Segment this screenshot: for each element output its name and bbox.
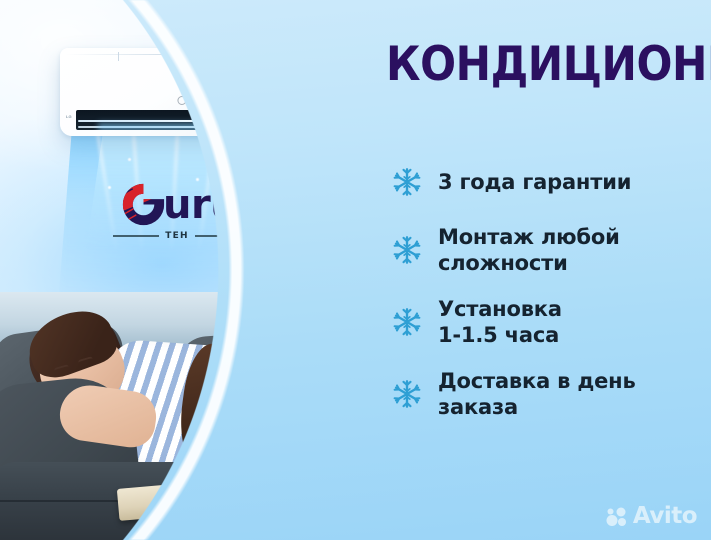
sparkle-particle: [108, 186, 111, 189]
feature-text: Установка 1-1.5 часа: [438, 296, 562, 348]
left-photo-column: LG DUAL Inverter LG Dual: [0, 0, 352, 540]
promo-banner: LG DUAL Inverter LG Dual: [0, 0, 711, 540]
ac-surface-highlight: [277, 68, 291, 82]
ac-panel-seam: [178, 52, 179, 61]
feature-item-delivery: Доставка в день заказа: [392, 368, 704, 420]
feature-text: Монтаж любой сложности: [438, 224, 620, 276]
feature-line-2: заказа: [438, 394, 636, 420]
feature-item-installation-time: Установка 1-1.5 часа: [392, 296, 704, 348]
guru-g-letter-icon: [121, 182, 166, 227]
ac-panel-seam: [118, 52, 119, 61]
lg-brand-logo: LG: [177, 96, 196, 106]
guru-rule-left: [113, 235, 159, 237]
feature-item-warranty: 3 года гарантии: [392, 160, 704, 204]
sparkle-particle: [196, 178, 199, 181]
guru-wordmark: uru: [113, 182, 241, 228]
feature-line-1: 3 года гарантии: [438, 169, 631, 195]
ac-side-label-right: Dual: [301, 114, 310, 119]
feature-list: 3 года гарантии: [392, 160, 704, 440]
ac-vent-glow: [98, 120, 275, 130]
snowflake-icon: [392, 307, 422, 337]
ac-panel-seam: [286, 52, 287, 61]
ac-badge-label: DUAL Inverter: [270, 98, 303, 103]
air-conditioner-scene: LG DUAL Inverter LG Dual: [0, 0, 352, 300]
air-conditioner-unit: LG DUAL Inverter LG Dual: [60, 48, 313, 136]
guru-rule-right: [195, 235, 241, 237]
lg-circle-icon: [177, 96, 186, 105]
sparkle-particle: [128, 158, 131, 161]
lg-brand-text: LG: [187, 100, 196, 106]
avito-wordmark: Avito: [633, 505, 697, 528]
ac-panel-seam: [238, 52, 239, 61]
ac-air-vent: [76, 110, 297, 130]
avito-watermark: Avito: [606, 505, 697, 528]
feature-line-1: Доставка в день: [438, 368, 636, 394]
feature-line-1: Установка: [438, 296, 562, 322]
feature-line-1: Монтаж любой: [438, 224, 620, 250]
ac-side-label-left: LG: [66, 114, 72, 119]
sparkle-particle: [222, 150, 225, 153]
avito-dots-icon: [606, 507, 628, 527]
feature-text: Доставка в день заказа: [438, 368, 636, 420]
feature-line-2: 1-1.5 часа: [438, 322, 562, 348]
page-title: КОНДИЦИОНЕРЫ: [386, 38, 674, 92]
woman-on-sofa-photo: [0, 292, 352, 540]
snowflake-icon: [392, 167, 422, 197]
guru-subtitle: TEH: [165, 231, 188, 241]
photo-edge-veil: [0, 292, 352, 540]
feature-text: 3 года гарантии: [438, 169, 631, 195]
snowflake-icon: [392, 235, 422, 265]
ac-top-seam: [66, 54, 307, 55]
guru-logo: uru TEH: [113, 182, 241, 242]
guru-subtitle-row: TEH: [113, 230, 241, 242]
guru-uru-text: uru: [163, 184, 238, 226]
snowflake-icon: [392, 379, 422, 409]
feature-item-installation-complexity: Монтаж любой сложности: [392, 224, 704, 276]
feature-line-2: сложности: [438, 250, 620, 276]
